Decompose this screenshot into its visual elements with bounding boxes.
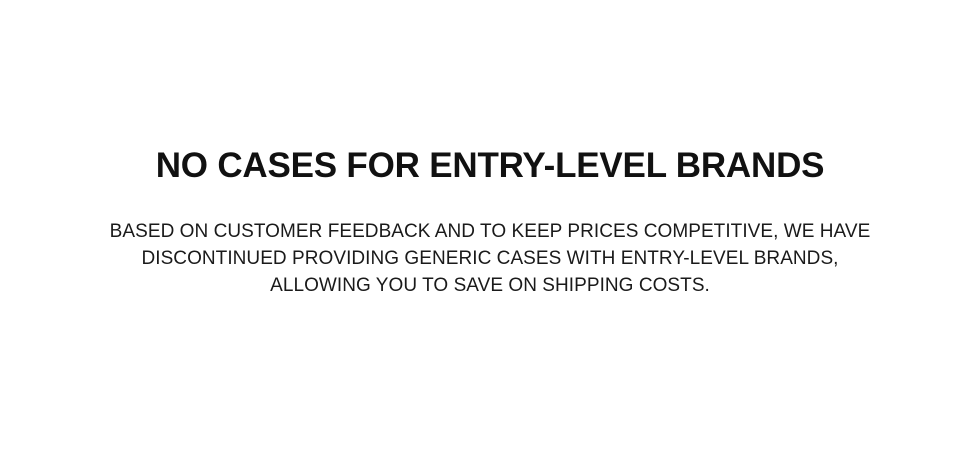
promo-banner-section: NO CASES FOR ENTRY-LEVEL BRANDS BASED ON… [0, 0, 980, 450]
promo-heading: NO CASES FOR ENTRY-LEVEL BRANDS [40, 148, 940, 185]
promo-content-block: NO CASES FOR ENTRY-LEVEL BRANDS BASED ON… [40, 0, 940, 299]
promo-description: BASED ON CUSTOMER FEEDBACK AND TO KEEP P… [90, 185, 890, 299]
